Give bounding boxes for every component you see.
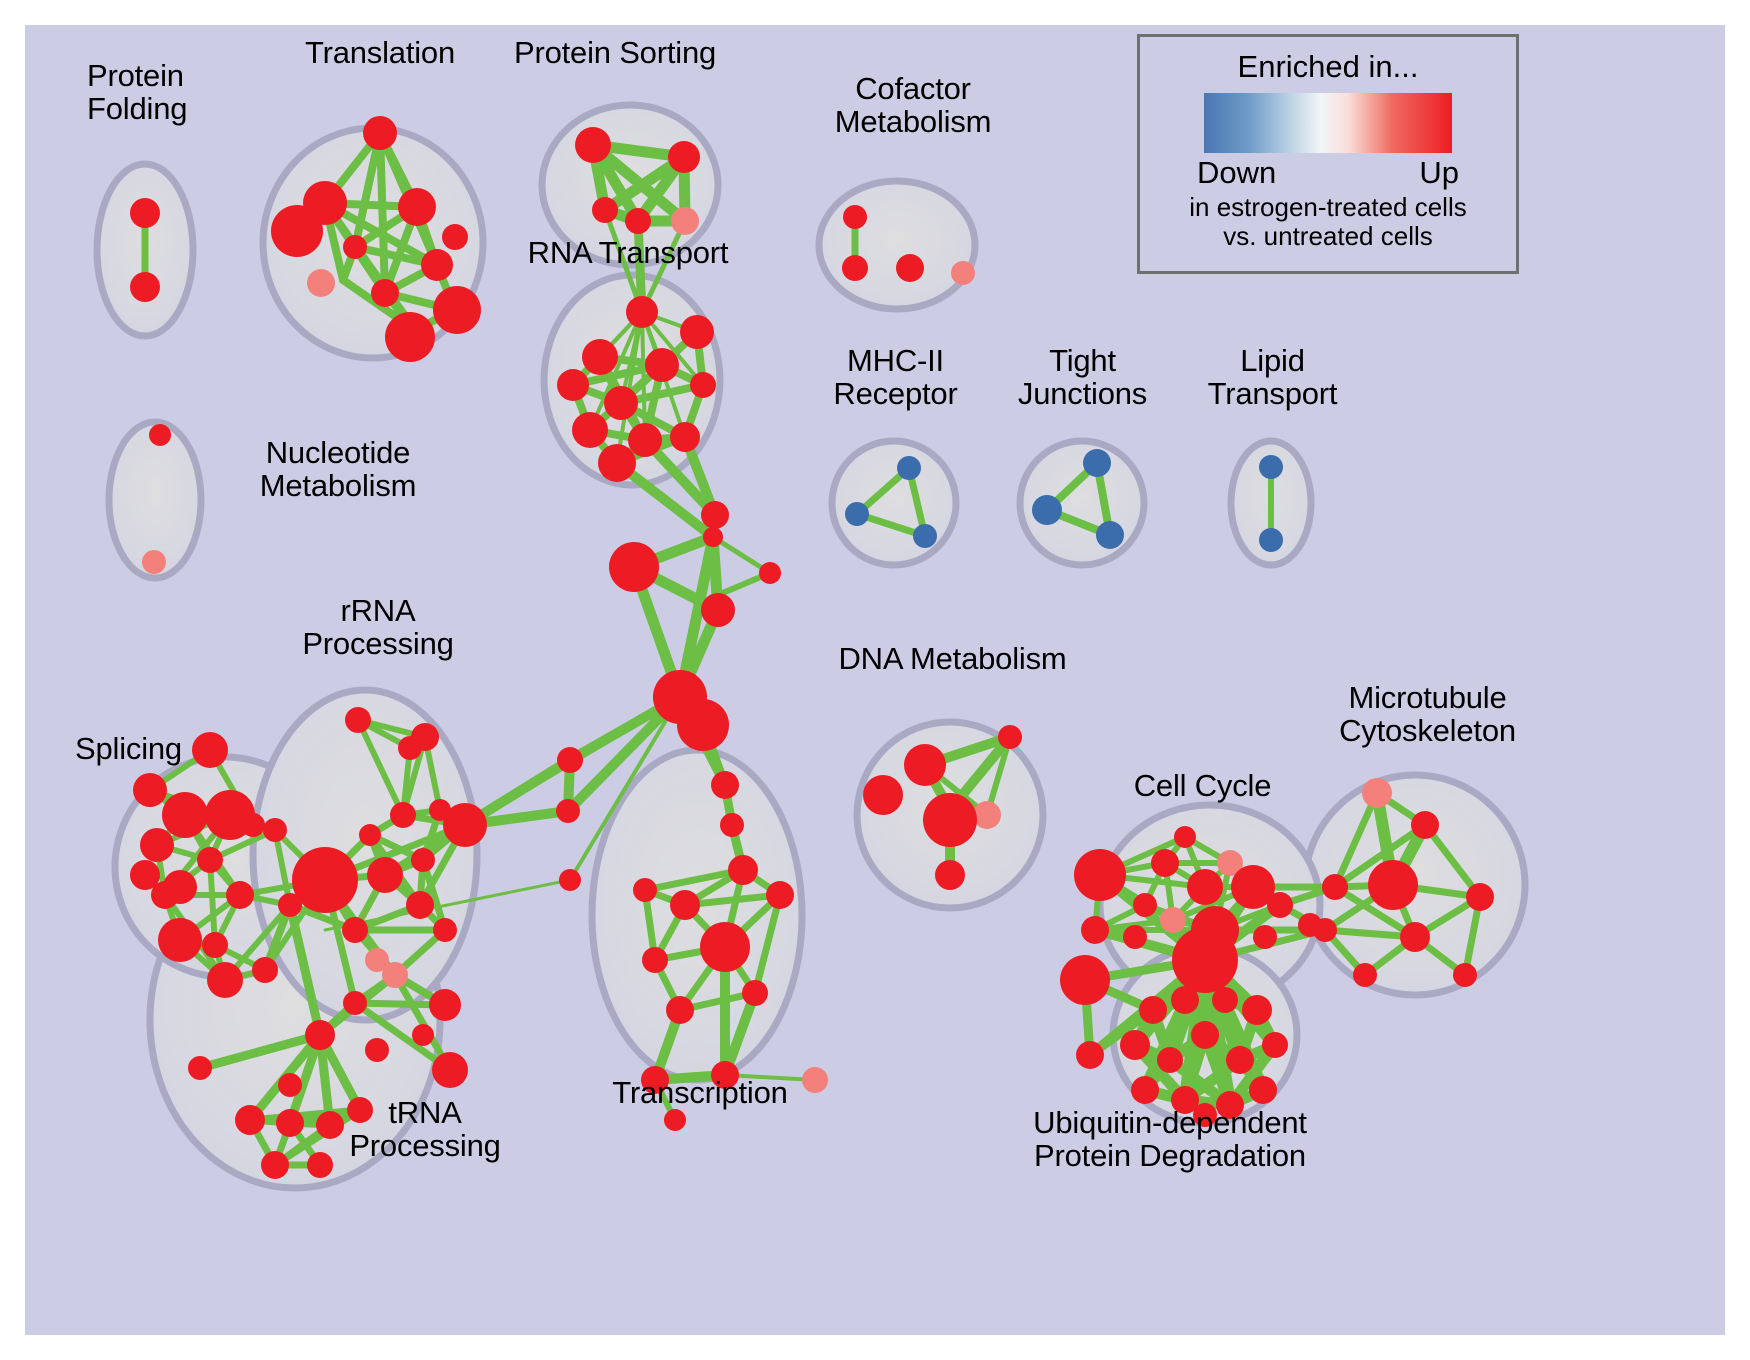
node bbox=[923, 793, 977, 847]
node bbox=[711, 1061, 739, 1089]
node bbox=[559, 869, 581, 891]
node bbox=[140, 828, 174, 862]
node bbox=[205, 790, 255, 840]
legend-title: Enriched in... bbox=[1238, 49, 1419, 85]
node bbox=[1081, 916, 1109, 944]
node bbox=[843, 205, 867, 229]
node bbox=[1242, 995, 1272, 1025]
node bbox=[1032, 495, 1062, 525]
node bbox=[142, 550, 166, 574]
node bbox=[442, 224, 468, 250]
node bbox=[1411, 811, 1439, 839]
node bbox=[701, 593, 735, 627]
node bbox=[406, 891, 434, 919]
node bbox=[192, 732, 228, 768]
node bbox=[1226, 1046, 1254, 1074]
node bbox=[1120, 1030, 1150, 1060]
node bbox=[433, 918, 457, 942]
node bbox=[1139, 996, 1167, 1024]
node bbox=[345, 707, 371, 733]
node bbox=[728, 855, 758, 885]
node bbox=[1060, 955, 1110, 1005]
node bbox=[271, 205, 323, 257]
node bbox=[411, 848, 435, 872]
node bbox=[1083, 449, 1111, 477]
legend-box: Enriched in... Down Up in estrogen-treat… bbox=[1137, 34, 1519, 274]
node bbox=[664, 1109, 686, 1131]
node bbox=[1160, 907, 1186, 933]
node bbox=[162, 792, 208, 838]
node bbox=[556, 799, 580, 823]
node bbox=[677, 699, 729, 751]
node bbox=[130, 860, 160, 890]
node bbox=[263, 818, 287, 842]
node bbox=[913, 524, 937, 548]
node bbox=[432, 1052, 468, 1088]
node bbox=[1076, 1041, 1104, 1069]
node bbox=[557, 369, 589, 401]
node bbox=[1151, 849, 1179, 877]
node bbox=[1157, 1047, 1183, 1073]
node bbox=[1074, 849, 1126, 901]
node bbox=[307, 1152, 333, 1178]
node bbox=[411, 723, 439, 751]
node bbox=[1131, 1076, 1159, 1104]
node bbox=[158, 918, 202, 962]
node bbox=[278, 1073, 302, 1097]
node bbox=[359, 824, 381, 846]
node bbox=[668, 141, 700, 173]
node bbox=[278, 893, 302, 917]
node bbox=[670, 422, 700, 452]
node bbox=[671, 207, 699, 235]
node bbox=[1193, 1103, 1217, 1127]
node bbox=[1453, 963, 1477, 987]
node bbox=[592, 197, 618, 223]
node bbox=[385, 312, 435, 362]
node bbox=[1400, 922, 1430, 952]
node bbox=[703, 527, 723, 547]
node bbox=[742, 980, 768, 1006]
node bbox=[252, 957, 278, 983]
node bbox=[897, 456, 921, 480]
cluster-halo-mhc-ii-receptor bbox=[832, 441, 956, 565]
node bbox=[759, 562, 781, 584]
node bbox=[628, 423, 662, 457]
node bbox=[690, 372, 716, 398]
node bbox=[1313, 918, 1337, 942]
node bbox=[666, 996, 694, 1024]
node bbox=[367, 857, 403, 893]
node bbox=[1368, 860, 1418, 910]
node bbox=[896, 254, 924, 282]
node bbox=[609, 542, 659, 592]
node bbox=[412, 1024, 434, 1046]
node bbox=[390, 802, 416, 828]
node bbox=[1249, 1076, 1277, 1104]
node bbox=[1353, 963, 1377, 987]
node bbox=[998, 725, 1022, 749]
node bbox=[398, 188, 436, 226]
cluster-halo-cofactor-metabolism bbox=[819, 181, 975, 309]
node bbox=[701, 501, 729, 529]
node bbox=[1096, 521, 1124, 549]
legend-color-gradient-bar bbox=[1204, 93, 1452, 153]
node bbox=[1187, 869, 1223, 905]
legend-down-label: Down bbox=[1197, 155, 1276, 191]
node bbox=[363, 116, 397, 150]
node bbox=[235, 1105, 265, 1135]
node bbox=[1172, 927, 1238, 993]
node bbox=[305, 1020, 335, 1050]
node bbox=[365, 948, 389, 972]
figure-stage: Protein Folding Translation Protein Sort… bbox=[0, 0, 1750, 1360]
node bbox=[443, 803, 487, 847]
node bbox=[1262, 1032, 1288, 1058]
node bbox=[1267, 892, 1293, 918]
node bbox=[766, 881, 794, 909]
node bbox=[429, 989, 461, 1021]
node bbox=[1466, 883, 1494, 911]
node bbox=[802, 1067, 828, 1093]
node bbox=[633, 878, 657, 902]
legend-up-label: Up bbox=[1419, 155, 1459, 191]
node bbox=[572, 412, 608, 448]
legend-subtitle-line1: in estrogen-treated cells bbox=[1189, 193, 1466, 222]
node bbox=[720, 813, 744, 837]
node bbox=[935, 860, 965, 890]
node bbox=[130, 272, 160, 302]
node bbox=[149, 424, 171, 446]
node bbox=[1171, 986, 1199, 1014]
node bbox=[951, 261, 975, 285]
node bbox=[973, 801, 1001, 829]
node bbox=[557, 747, 583, 773]
node bbox=[1212, 987, 1238, 1013]
node bbox=[711, 771, 739, 799]
node bbox=[904, 744, 946, 786]
node bbox=[1216, 1091, 1244, 1119]
node bbox=[226, 881, 254, 909]
node bbox=[680, 315, 714, 349]
node bbox=[371, 279, 399, 307]
node bbox=[188, 1056, 212, 1080]
node bbox=[307, 269, 335, 297]
node bbox=[133, 773, 167, 807]
node bbox=[582, 339, 618, 375]
node bbox=[342, 917, 368, 943]
legend-subtitle: in estrogen-treated cells vs. untreated … bbox=[1189, 193, 1466, 251]
node bbox=[1259, 528, 1283, 552]
node bbox=[343, 991, 367, 1015]
node bbox=[1133, 893, 1157, 917]
node bbox=[365, 1038, 389, 1062]
node bbox=[421, 249, 453, 281]
node bbox=[842, 255, 868, 281]
node bbox=[845, 502, 869, 526]
node bbox=[1362, 778, 1392, 808]
node bbox=[670, 890, 700, 920]
node bbox=[130, 198, 160, 228]
node bbox=[642, 947, 668, 973]
cluster-halo-protein-sorting bbox=[542, 105, 718, 265]
node bbox=[433, 286, 481, 334]
node bbox=[1259, 455, 1283, 479]
node bbox=[347, 1097, 373, 1123]
node bbox=[1191, 1021, 1219, 1049]
node bbox=[625, 208, 651, 234]
node bbox=[645, 348, 679, 382]
node bbox=[292, 847, 358, 913]
node bbox=[1123, 925, 1147, 949]
node bbox=[197, 847, 223, 873]
node bbox=[1253, 925, 1277, 949]
node bbox=[641, 1066, 669, 1094]
node bbox=[598, 444, 636, 482]
node bbox=[700, 922, 750, 972]
node bbox=[575, 127, 611, 163]
node bbox=[626, 296, 658, 328]
legend-subtitle-line2: vs. untreated cells bbox=[1189, 222, 1466, 251]
node bbox=[202, 932, 228, 958]
node bbox=[1174, 826, 1196, 848]
node bbox=[863, 775, 903, 815]
network-canvas: Protein Folding Translation Protein Sort… bbox=[25, 25, 1725, 1335]
node bbox=[261, 1151, 289, 1179]
node bbox=[604, 386, 638, 420]
node bbox=[207, 962, 243, 998]
node bbox=[276, 1109, 304, 1137]
node bbox=[1322, 874, 1348, 900]
legend-endpoint-labels: Down Up bbox=[1197, 155, 1459, 191]
node bbox=[316, 1111, 344, 1139]
node bbox=[343, 235, 367, 259]
